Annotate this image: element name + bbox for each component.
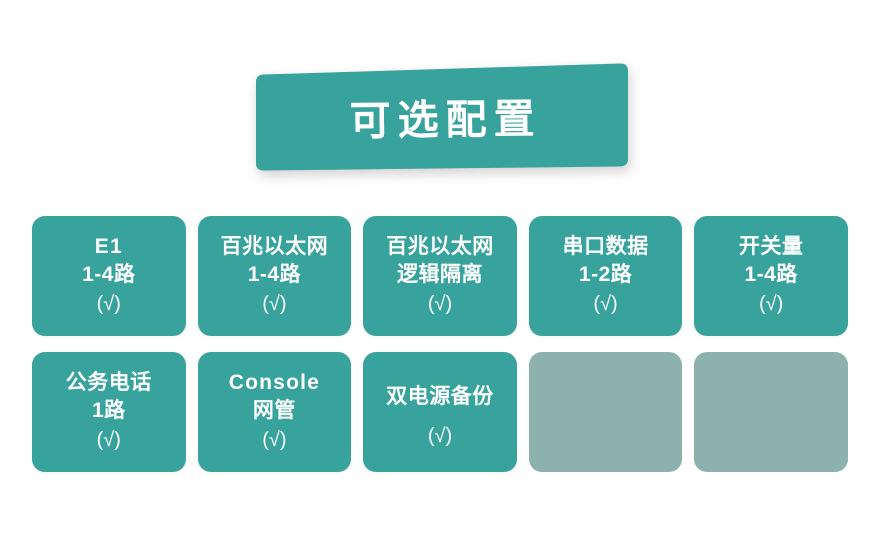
card-grid: E1 1-4路 (√) 百兆以太网 1-4路 (√) 百兆以太网 逻辑隔离 (√… [32,216,848,472]
header-banner-shape [252,62,632,174]
card-row-2: 公务电话 1路 (√) Console 网管 (√) 双电源备份 (√) [32,352,848,472]
card-line-1: 开关量 [739,233,804,261]
card-checkmark: (√) [97,291,121,317]
card-console-network-management[interactable]: Console 网管 (√) [198,352,352,472]
card-checkmark: (√) [262,427,286,453]
card-line-1: 公务电话 [66,369,152,397]
card-line-2: 1-2路 [579,261,632,289]
card-checkmark: (√) [759,291,783,317]
card-line-1: 百兆以太网 [386,233,494,261]
card-row-1: E1 1-4路 (√) 百兆以太网 1-4路 (√) 百兆以太网 逻辑隔离 (√… [32,216,848,336]
card-line-2: 1-4路 [744,261,797,289]
card-dual-power-backup[interactable]: 双电源备份 (√) [363,352,517,472]
card-placeholder-1 [529,352,683,472]
card-line-2: 网管 [253,397,296,425]
card-line-2: 1-4路 [248,261,301,289]
card-placeholder-2 [694,352,848,472]
card-checkmark: (√) [97,427,121,453]
card-checkmark: (√) [262,291,286,317]
card-serial-data[interactable]: 串口数据 1-2路 (√) [529,216,683,336]
card-line-2: 1-4路 [82,261,135,289]
card-line-1: Console [229,369,320,397]
card-checkmark: (√) [428,423,452,449]
card-checkmark: (√) [428,291,452,317]
card-line-1: 双电源备份 [386,383,494,411]
card-line-2: 逻辑隔离 [397,261,483,289]
card-fast-ethernet-logical-isolation[interactable]: 百兆以太网 逻辑隔离 (√) [363,216,517,336]
card-fast-ethernet[interactable]: 百兆以太网 1-4路 (√) [198,216,352,336]
card-line-1: E1 [95,233,123,261]
header-banner: 可选配置 [252,62,632,174]
card-e1[interactable]: E1 1-4路 (√) [32,216,186,336]
card-line-1: 串口数据 [563,233,649,261]
card-line-2: 1路 [92,397,126,425]
card-service-telephone[interactable]: 公务电话 1路 (√) [32,352,186,472]
optional-configuration-infographic: 可选配置 E1 1-4路 (√) 百兆以太网 1-4路 (√) 百兆以太网 逻辑… [0,0,880,560]
card-checkmark: (√) [593,291,617,317]
card-switch-quantity[interactable]: 开关量 1-4路 (√) [694,216,848,336]
card-line-1: 百兆以太网 [221,233,329,261]
